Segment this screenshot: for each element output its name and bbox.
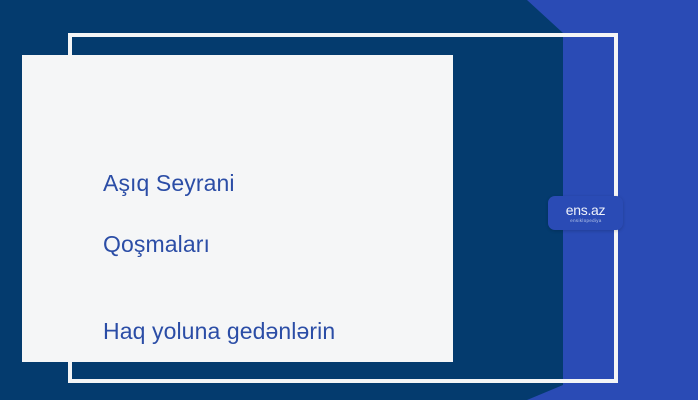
ens-az-logo-badge[interactable]: ens.az ensiklopediya xyxy=(548,196,623,230)
slide-title: Aşıq Seyrani Qoşmaları xyxy=(103,137,437,290)
slide-canvas: Aşıq Seyrani Qoşmaları Haq yoluna gedənl… xyxy=(0,0,698,400)
slide-subtitle: Haq yoluna gedənlərin xyxy=(103,316,437,347)
card-body: Aşıq Seyrani Qoşmaları Haq yoluna gedənl… xyxy=(103,137,437,346)
title-line-1: Aşıq Seyrani xyxy=(103,168,437,199)
title-subtitle-spacer xyxy=(103,290,437,316)
ens-az-wordmark: ens.az xyxy=(566,203,605,217)
content-card: Aşıq Seyrani Qoşmaları Haq yoluna gedənl… xyxy=(22,55,453,362)
ens-az-tagline: ensiklopediya xyxy=(570,219,601,223)
title-line-2: Qoşmaları xyxy=(103,229,437,260)
